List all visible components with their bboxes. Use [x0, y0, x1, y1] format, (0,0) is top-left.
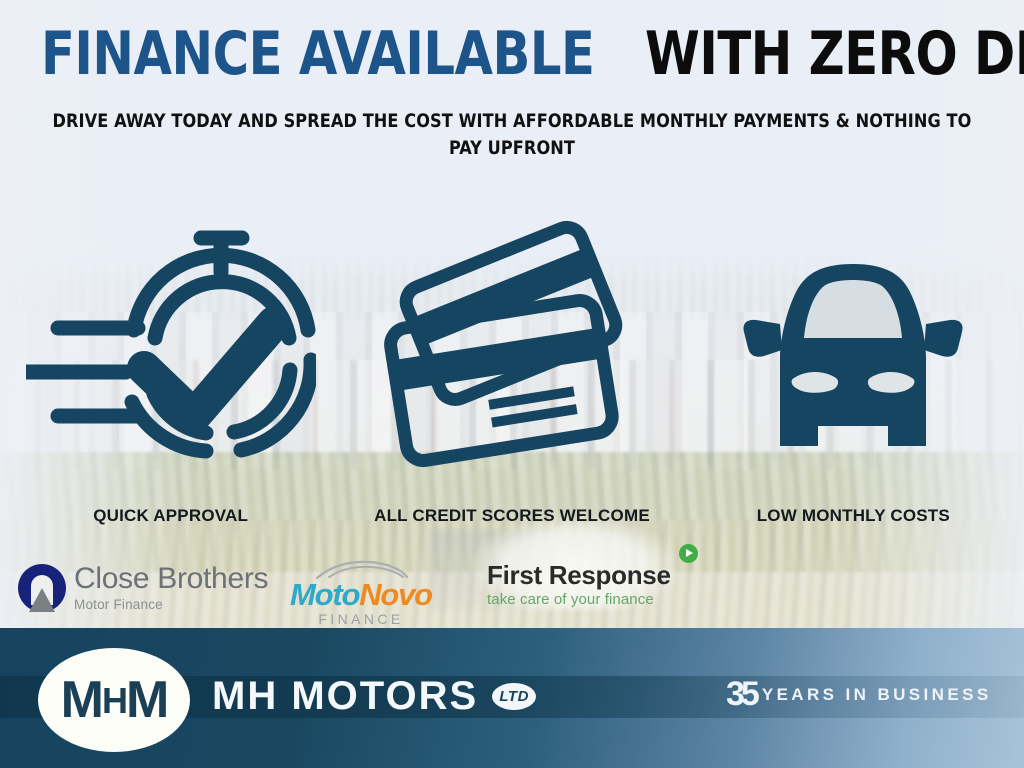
mhm-letter-m1: M: [61, 674, 102, 726]
years-number: 35: [726, 677, 756, 711]
page-subtitle: DRIVE AWAY TODAY AND SPREAD THE COST WIT…: [39, 108, 986, 162]
mhm-logo: MHM: [38, 648, 190, 752]
lender-name-part1: Moto: [290, 577, 359, 612]
credit-cards-icon: [377, 220, 647, 496]
headline-black-part: WITH ZERO DEPOSIT: [645, 19, 1024, 89]
years-in-business: 35 YEARS IN BUSINESS: [726, 678, 992, 712]
mhm-letter-h: H: [102, 683, 126, 719]
feature-caption: ALL CREDIT SCORES WELCOME: [374, 506, 650, 526]
lender-motonovo: MotoNovo FINANCE: [290, 560, 432, 627]
lender-name: First Response: [487, 562, 671, 589]
headline-blue-part: FINANCE AVAILABLE: [41, 19, 595, 89]
close-brothers-mountain-icon: [18, 564, 66, 612]
mhm-letter-m2: M: [126, 674, 167, 726]
feature-all-credit-scores: ALL CREDIT SCORES WELCOME: [341, 196, 682, 526]
feature-low-monthly-costs: LOW MONTHLY COSTS: [683, 196, 1024, 526]
lender-name: Close Brothers: [74, 564, 268, 594]
feature-caption: QUICK APPROVAL: [93, 506, 248, 526]
feature-row: QUICK APPROVAL: [0, 196, 1024, 526]
green-play-icon: [679, 544, 698, 563]
years-label: YEARS IN BUSINESS: [762, 685, 992, 705]
ltd-badge: LTD: [492, 683, 536, 710]
lender-subtitle: Motor Finance: [74, 598, 268, 612]
lender-subtitle: take care of your finance: [487, 591, 654, 608]
lender-first-response: First Response take care of your finance: [487, 562, 698, 608]
brand-label: MH MOTORS: [212, 676, 478, 716]
car-front-icon: [728, 220, 978, 496]
page-title: FINANCE AVAILABLE WITH ZERO DEPOSIT: [41, 24, 983, 84]
lender-subtitle: FINANCE: [318, 611, 403, 627]
lender-name-part2: Novo: [359, 577, 432, 612]
feature-caption: LOW MONTHLY COSTS: [757, 506, 950, 526]
finance-banner: FINANCE AVAILABLE WITH ZERO DEPOSIT DRIV…: [0, 0, 1024, 768]
lender-close-brothers: Close Brothers Motor Finance: [18, 564, 268, 612]
mhm-logo-letters: MHM: [61, 674, 168, 726]
feature-quick-approval: QUICK APPROVAL: [0, 196, 341, 526]
brand-name: MH MOTORS LTD: [212, 676, 536, 716]
lender-logo-row: Close Brothers Motor Finance MotoNovo FI…: [0, 556, 1024, 626]
stopwatch-check-icon: [26, 220, 316, 496]
